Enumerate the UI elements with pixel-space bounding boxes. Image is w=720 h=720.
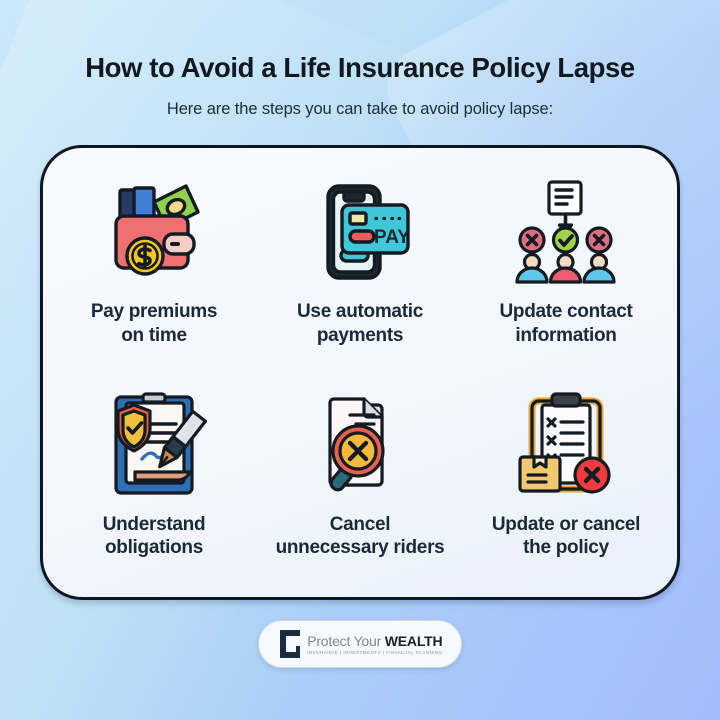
- step-label-line2: on time: [91, 324, 217, 348]
- step-label-line1: Use automatic: [297, 300, 423, 324]
- step-item-cancel-riders: Cancel unnecessary riders: [257, 375, 463, 588]
- brand-tagline: INSURANCE | INVESTMENTS | FINANCIAL PLAN…: [307, 650, 443, 655]
- step-label-line2: unnecessary riders: [276, 536, 445, 560]
- clipboard-cancel-icon: [506, 389, 626, 501]
- infographic-root: How to Avoid a Life Insurance Policy Lap…: [0, 0, 720, 720]
- step-label-line2: obligations: [103, 536, 206, 560]
- step-label: Cancel unnecessary riders: [276, 513, 445, 561]
- step-label: Update contact information: [499, 300, 632, 348]
- step-label: Pay premiums on time: [91, 300, 217, 348]
- phone-payment-card-icon: PAY: [300, 176, 420, 288]
- page-subtitle: Here are the steps you can take to avoid…: [0, 100, 720, 119]
- step-item-automatic-payments: PAY Use automatic payments: [257, 162, 463, 375]
- page-title: How to Avoid a Life Insurance Policy Lap…: [0, 52, 720, 84]
- document-magnifier-x-icon: [300, 389, 420, 501]
- phone-card-pay-text: PAY: [374, 227, 410, 248]
- step-item-update-contact: Update contact information: [463, 162, 669, 375]
- steps-card: Pay premiums on time: [40, 145, 680, 600]
- step-label: Update or cancel the policy: [492, 513, 640, 561]
- step-item-understand-obligations: Understand obligations: [51, 375, 257, 588]
- step-item-update-cancel-policy: Update or cancel the policy: [463, 375, 669, 588]
- step-label: Use automatic payments: [297, 300, 423, 348]
- brand-name: Protect Your WEALTH: [307, 633, 443, 649]
- step-label-line2: the policy: [492, 536, 640, 560]
- steps-grid: Pay premiums on time: [43, 148, 677, 597]
- brand-logo[interactable]: Protect Your WEALTH INSURANCE | INVESTME…: [258, 620, 462, 668]
- step-label-line1: Understand: [103, 513, 206, 537]
- brand-logo-inner: Protect Your WEALTH INSURANCE | INVESTME…: [277, 628, 443, 660]
- step-label-line1: Cancel: [276, 513, 445, 537]
- step-label-line2: payments: [297, 324, 423, 348]
- brand-logo-text: Protect Your WEALTH INSURANCE | INVESTME…: [307, 633, 443, 655]
- clipboard-signature-icon: [94, 389, 214, 501]
- contacts-update-icon: [506, 176, 626, 288]
- brand-name-light: Protect Your: [307, 633, 385, 649]
- step-item-pay-premiums: Pay premiums on time: [51, 162, 257, 375]
- step-label-line1: Update contact: [499, 300, 632, 324]
- shield-icon: [277, 628, 303, 660]
- step-label-line2: information: [499, 324, 632, 348]
- brand-name-bold: WEALTH: [385, 633, 443, 649]
- wallet-money-icon: [94, 176, 214, 288]
- step-label-line1: Update or cancel: [492, 513, 640, 537]
- step-label: Understand obligations: [103, 513, 206, 561]
- step-label-line1: Pay premiums: [91, 300, 217, 324]
